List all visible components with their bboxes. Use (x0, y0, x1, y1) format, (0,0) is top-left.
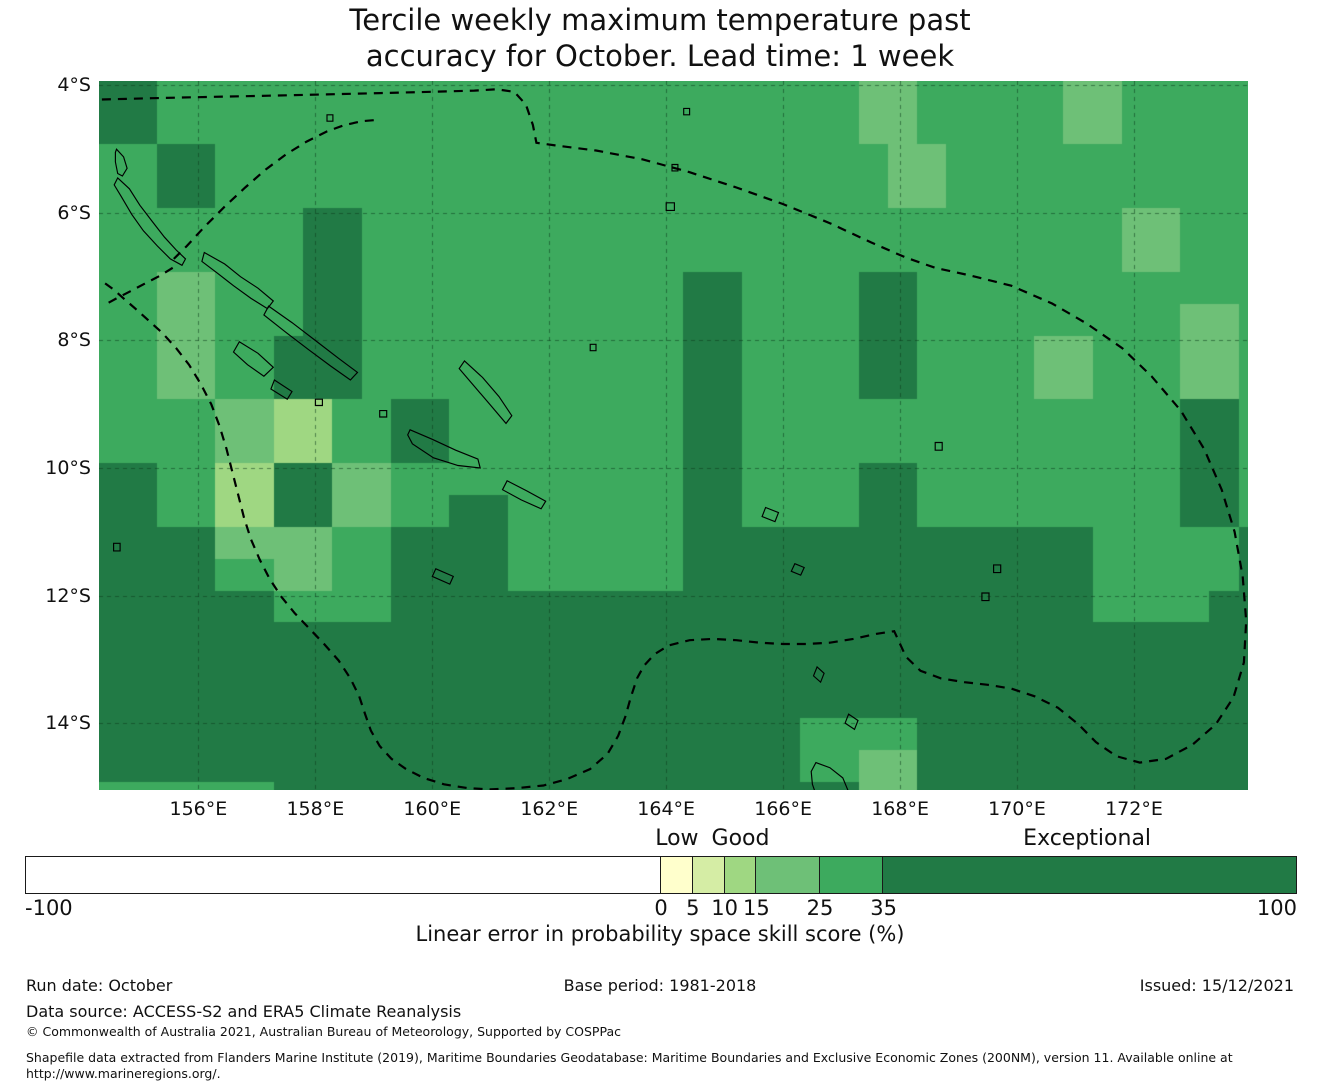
chart-title-line-2: accuracy for October. Lead time: 1 week (0, 38, 1320, 74)
colorbar-category-low: Low (655, 826, 698, 851)
coastline-24 (327, 115, 333, 121)
coastline-15 (845, 714, 858, 729)
map-overlay-vectors (99, 81, 1248, 790)
footer-issued: Issued: 15/12/2021 (1140, 976, 1294, 995)
colorbar-tick--100: -100 (25, 896, 73, 920)
coastline-4 (234, 342, 274, 376)
coastline-9 (432, 569, 453, 584)
chart-title-line-1: Tercile weekly maximum temperature past (0, 2, 1320, 38)
colorbar-tick-10: 10 (711, 896, 738, 920)
y-tick-4S: 4°S (57, 74, 91, 96)
colorbar-segment-15-to-25[interactable] (756, 857, 820, 893)
eez-boundary-0 (100, 89, 1246, 789)
colorbar-segment-35-to-100[interactable] (883, 857, 1296, 893)
footer-copyright: © Commonwealth of Australia 2021, Austra… (26, 1024, 621, 1039)
footer-shapefile-line-2: http://www.marineregions.org/. (26, 1066, 221, 1081)
colorbar-category-labels: LowGoodExceptional (0, 826, 1320, 854)
colorbar-tick-15: 15 (743, 896, 770, 920)
footer-data-source: Data source: ACCESS-S2 and ERA5 Climate … (26, 1002, 461, 1021)
coastline-paths (114, 108, 1001, 790)
x-tick-162E: 162°E (520, 798, 578, 820)
footer-run-date: Run date: October (26, 976, 172, 995)
coastline-3 (264, 306, 358, 380)
y-tick-14S: 14°S (45, 712, 91, 734)
colorbar[interactable] (25, 856, 1297, 894)
colorbar-category-good: Good (712, 826, 770, 851)
y-tick-6S: 6°S (57, 202, 91, 224)
eez-boundary-2 (105, 268, 173, 305)
coastline-23 (666, 203, 674, 211)
coastline-8 (503, 481, 546, 509)
eez-boundary-paths (100, 89, 1246, 789)
x-tick-160E: 160°E (403, 798, 461, 820)
coastline-2 (202, 253, 273, 309)
x-tick-172E: 172°E (1105, 798, 1163, 820)
x-tick-168E: 168°E (871, 798, 929, 820)
coastline-21 (684, 108, 690, 114)
colorbar-axis-label: Linear error in probability space skill … (0, 922, 1320, 946)
colorbar-tick-0: 0 (654, 896, 667, 920)
colorbar-tick-25: 25 (807, 896, 834, 920)
coastline-10 (380, 411, 387, 417)
coastline-25 (590, 344, 596, 350)
eez-boundary-1 (174, 120, 377, 259)
coastline-5 (271, 380, 292, 399)
coastline-16 (811, 763, 848, 790)
footer-shapefile-line-1: Shapefile data extracted from Flanders M… (26, 1050, 1233, 1065)
colorbar-tick-35: 35 (870, 896, 897, 920)
colorbar-segment--100-to-0[interactable] (26, 857, 661, 893)
footer: Run date: October Base period: 1981-2018… (0, 972, 1320, 1080)
colorbar-category-exceptional: Exceptional (1023, 826, 1151, 851)
x-tick-156E: 156°E (170, 798, 228, 820)
coastline-27 (994, 565, 1001, 573)
y-tick-10S: 10°S (45, 457, 91, 479)
chart-title: Tercile weekly maximum temperature past … (0, 2, 1320, 74)
colorbar-segment-10-to-15[interactable] (725, 857, 757, 893)
x-tick-158E: 158°E (286, 798, 344, 820)
colorbar-segment-25-to-35[interactable] (820, 857, 884, 893)
map-plot-area[interactable] (99, 81, 1248, 790)
colorbar-tick-5: 5 (686, 896, 699, 920)
coastline-11 (315, 399, 322, 405)
coastline-0 (115, 149, 127, 176)
x-tick-164E: 164°E (637, 798, 695, 820)
coastline-14 (814, 667, 825, 682)
footer-base-period: Base period: 1981-2018 (564, 976, 757, 995)
colorbar-segment-5-to-10[interactable] (693, 857, 725, 893)
y-tick-12S: 12°S (45, 585, 91, 607)
coastline-1 (114, 178, 185, 265)
colorbar-tick-100: 100 (1257, 896, 1297, 920)
x-tick-166E: 166°E (754, 798, 812, 820)
coastline-26 (935, 443, 942, 451)
coastline-6 (408, 430, 481, 468)
coastline-12 (762, 508, 778, 522)
colorbar-segment-0-to-5[interactable] (661, 857, 693, 893)
coastline-13 (791, 564, 804, 575)
x-tick-170E: 170°E (988, 798, 1046, 820)
y-tick-8S: 8°S (57, 329, 91, 351)
colorbar-tick-labels: -1000510152535100 (0, 896, 1320, 922)
coastline-29 (114, 543, 121, 551)
coastline-28 (982, 593, 989, 601)
coastline-7 (459, 361, 512, 424)
